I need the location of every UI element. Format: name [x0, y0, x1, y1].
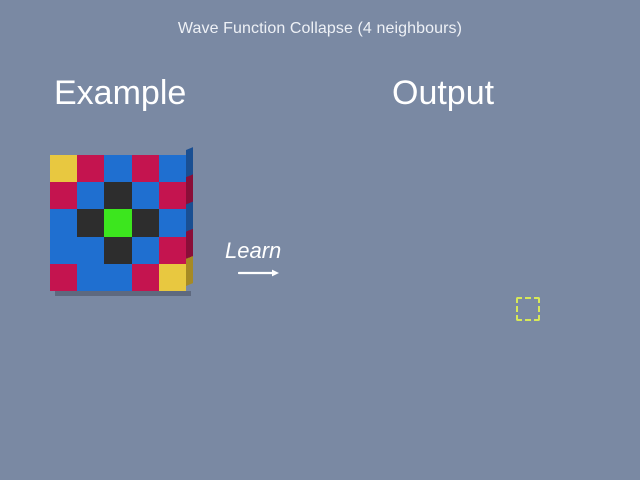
example-cell-r1-c0 — [50, 182, 77, 209]
example-cell-r3-c4 — [159, 237, 186, 264]
example-cell-r4-c1 — [77, 264, 104, 291]
example-cell-r4-c0 — [50, 264, 77, 291]
grid-3d-right-face — [186, 147, 193, 286]
example-cell-r0-c1 — [77, 155, 104, 182]
example-cell-r0-c3 — [132, 155, 159, 182]
example-cell-r0-c0 — [50, 155, 77, 182]
example-cell-r1-c3 — [132, 182, 159, 209]
learn-label: Learn — [225, 238, 281, 264]
example-cell-r0-c2 — [104, 155, 131, 182]
example-cell-r4-c3 — [132, 264, 159, 291]
example-cell-r3-c1 — [77, 237, 104, 264]
output-uncollapsed-cell[interactable] — [516, 297, 540, 321]
arrow-right-icon — [238, 268, 280, 278]
example-cell-r2-c0 — [50, 209, 77, 236]
example-cell-r3-c2 — [104, 237, 131, 264]
example-cell-r0-c4 — [159, 155, 186, 182]
example-cell-r1-c4 — [159, 182, 186, 209]
example-cell-r4-c4 — [159, 264, 186, 291]
example-pattern-block — [50, 155, 186, 291]
output-panel-heading: Output — [392, 76, 494, 110]
example-pattern-grid — [50, 155, 186, 291]
grid-drop-shadow — [55, 291, 191, 296]
example-cell-r2-c4 — [159, 209, 186, 236]
slide-canvas: Wave Function Collapse (4 neighbours) Ex… — [0, 0, 640, 480]
example-cell-r1-c2 — [104, 182, 131, 209]
example-panel-heading: Example — [54, 76, 186, 110]
example-cell-r2-c2 — [104, 209, 131, 236]
example-cell-r4-c2 — [104, 264, 131, 291]
example-cell-r2-c3 — [132, 209, 159, 236]
example-cell-r1-c1 — [77, 182, 104, 209]
example-cell-r3-c3 — [132, 237, 159, 264]
page-title: Wave Function Collapse (4 neighbours) — [0, 20, 640, 38]
example-cell-r3-c0 — [50, 237, 77, 264]
example-cell-r2-c1 — [77, 209, 104, 236]
